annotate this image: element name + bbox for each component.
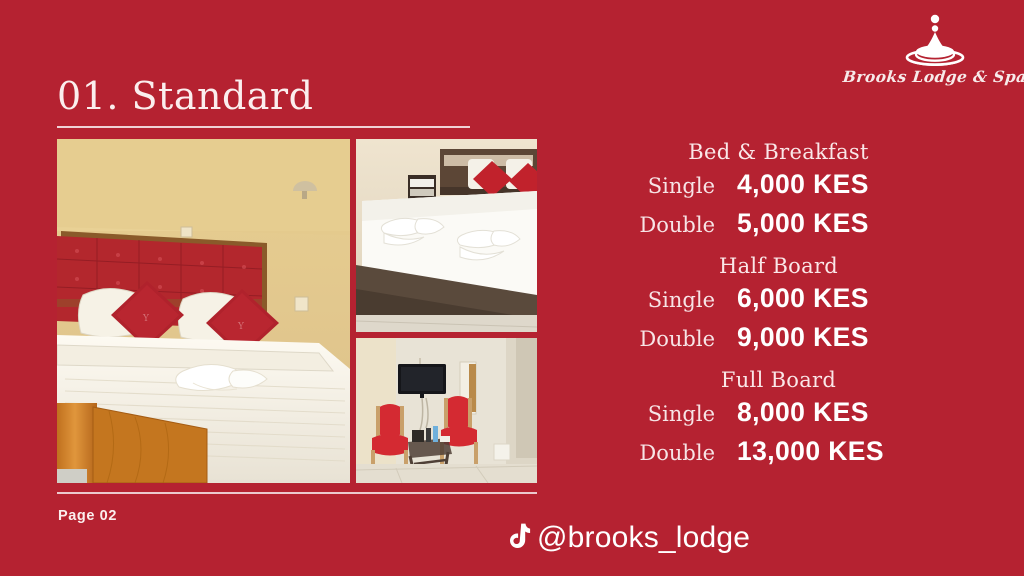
price-row: Double 5,000 KES <box>600 208 1000 247</box>
water-droplet-splash-icon <box>893 14 977 66</box>
photo-collage: Y Y <box>57 139 537 483</box>
occupancy-label: Double <box>600 441 715 465</box>
pricing-section-half-board: Half Board Single 6,000 KES Double 9,000… <box>600 254 1000 361</box>
price-row: Double 13,000 KES <box>600 436 1000 475</box>
occupancy-label: Single <box>600 288 715 312</box>
pricing-section-bed-and-breakfast: Bed & Breakfast Single 4,000 KES Double … <box>600 140 1000 247</box>
photo-standard-room-bed-towel-swans <box>356 139 537 332</box>
price-value: 4,000 KES <box>715 169 1000 200</box>
brand-logo: Brooks Lodge & Spa <box>856 14 1014 106</box>
title-divider <box>57 126 470 128</box>
price-value: 5,000 KES <box>715 208 1000 239</box>
spacer <box>600 247 1000 254</box>
price-value: 13,000 KES <box>715 436 1000 467</box>
pricing-section-full-board: Full Board Single 8,000 KES Double 13,00… <box>600 368 1000 475</box>
pricing-list: Bed & Breakfast Single 4,000 KES Double … <box>600 140 1000 475</box>
price-value: 9,000 KES <box>715 322 1000 353</box>
price-row: Single 8,000 KES <box>600 397 1000 436</box>
price-row: Double 9,000 KES <box>600 322 1000 361</box>
photo-standard-room-lounge-area <box>356 338 537 483</box>
section-title: Half Board <box>640 254 917 278</box>
tiktok-icon <box>505 523 531 553</box>
page-number-label: Page 02 <box>58 508 117 524</box>
price-row: Single 4,000 KES <box>600 169 1000 208</box>
photo-standard-room-bed-main: Y Y <box>57 139 350 483</box>
price-value: 6,000 KES <box>715 283 1000 314</box>
footer-divider <box>57 492 537 494</box>
brand-name: Brooks Lodge & Spa <box>842 67 1024 86</box>
section-title: Full Board <box>640 368 917 392</box>
occupancy-label: Double <box>600 327 715 351</box>
price-value: 8,000 KES <box>715 397 1000 428</box>
social-handle-text: @brooks_lodge <box>537 521 750 555</box>
occupancy-label: Double <box>600 213 715 237</box>
occupancy-label: Single <box>600 402 715 426</box>
section-title: Bed & Breakfast <box>640 140 917 164</box>
occupancy-label: Single <box>600 174 715 198</box>
spacer <box>600 361 1000 368</box>
svg-text:Y: Y <box>237 322 245 332</box>
svg-text:Y: Y <box>142 314 150 324</box>
social-handle[interactable]: @brooks_lodge <box>505 521 750 555</box>
slide-canvas: Brooks Lodge & Spa 01. Standard <box>0 0 1024 576</box>
price-row: Single 6,000 KES <box>600 283 1000 322</box>
page-title: 01. Standard <box>57 74 313 118</box>
